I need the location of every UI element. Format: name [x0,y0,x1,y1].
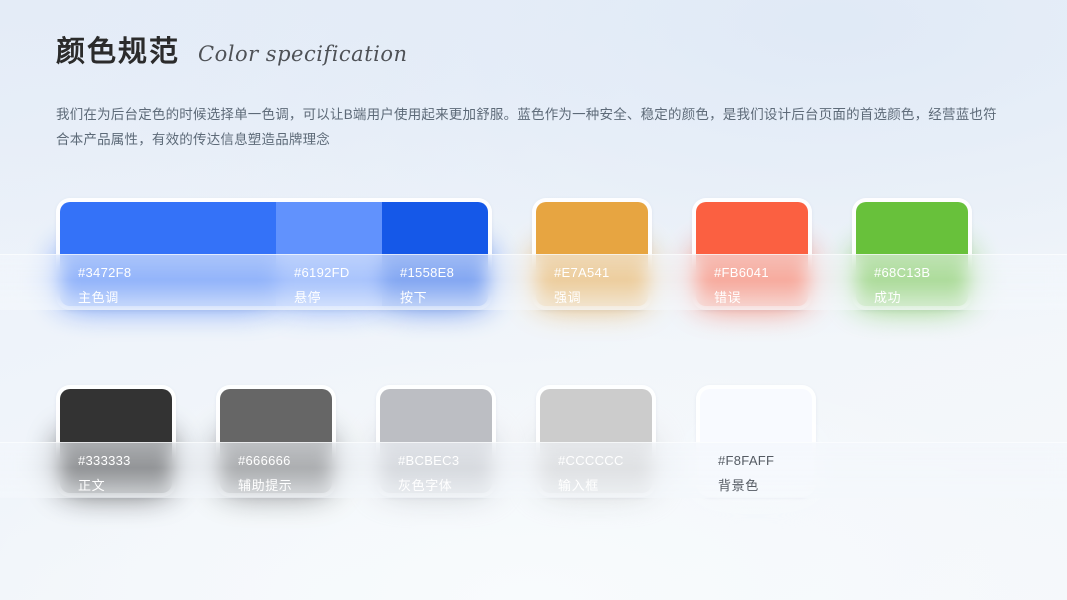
page-header: 颜色规范 Color specification [56,38,408,67]
swatch-role-name: 灰色字体 [398,479,459,493]
page-description: 我们在为后台定色的时候选择单一色调，可以让B端用户使用起来更加舒服。蓝色作为一种… [56,102,1008,152]
swatch-label-3472f8: #3472F8主色调 [78,266,131,305]
swatch-label-f8faff: #F8FAFF背景色 [718,454,774,493]
swatch-label-e7a541: #E7A541强调 [554,266,610,305]
swatch-label-333333: #333333正文 [78,454,131,493]
swatch-hex-value: #1558E8 [400,266,454,280]
palette-row-primary-cards [56,198,972,310]
swatch-label-666666: #666666辅助提示 [238,454,292,493]
swatch-hex-value: #F8FAFF [718,454,774,468]
palette-row-neutral [0,385,1067,497]
swatch-hex-value: #CCCCCC [558,454,624,468]
swatch-label-1558e8: #1558E8按下 [400,266,454,305]
swatch-hex-value: #E7A541 [554,266,610,280]
swatch-label-fb6041: #FB6041错误 [714,266,769,305]
color-specification-page: 颜色规范 Color specification 我们在为后台定色的时候选择单一… [0,0,1067,600]
title-row: 颜色规范 Color specification [56,38,408,67]
swatch-hex-value: #68C13B [874,266,930,280]
swatch-label-6192fd: #6192FD悬停 [294,266,350,305]
swatch-role-name: 按下 [400,291,454,305]
page-subtitle: Color specification [198,44,408,67]
swatch-role-name: 辅助提示 [238,479,292,493]
swatch-hex-value: #FB6041 [714,266,769,280]
swatch-role-name: 输入框 [558,479,624,493]
swatch-hex-value: #666666 [238,454,292,468]
swatch-role-name: 背景色 [718,479,774,493]
swatch-label-cccccc: #CCCCCC输入框 [558,454,624,493]
swatch-role-name: 成功 [874,291,930,305]
page-title: 颜色规范 [56,38,180,67]
swatch-hex-value: #BCBEC3 [398,454,459,468]
swatch-hex-value: #3472F8 [78,266,131,280]
swatch-label-bcbec3: #BCBEC3灰色字体 [398,454,459,493]
swatch-hex-value: #333333 [78,454,131,468]
swatch-role-name: 强调 [554,291,610,305]
swatch-role-name: 悬停 [294,291,350,305]
swatch-role-name: 主色调 [78,291,131,305]
swatch-label-68c13b: #68C13B成功 [874,266,930,305]
swatch-role-name: 正文 [78,479,131,493]
swatch-role-name: 错误 [714,291,769,305]
swatch-hex-value: #6192FD [294,266,350,280]
